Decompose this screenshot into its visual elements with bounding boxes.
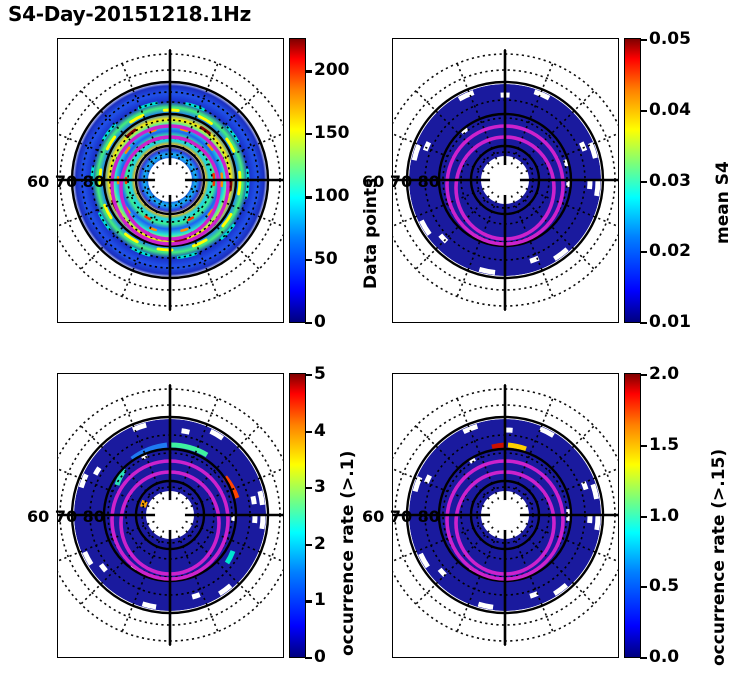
colorbar-data-points: 0 50 100 150 200 Data points [289, 38, 306, 323]
panel-mean-s4: 60 70 80 [392, 38, 619, 323]
cbar-tick-1: 0.02 [649, 241, 691, 261]
cbar-tick-0: 0.01 [649, 312, 691, 332]
cbar-tick-1: 1 [314, 590, 326, 610]
latitude-tick-labels: 60 70 80 [27, 172, 105, 191]
colorbar-occurrence-015: 0.0 0.5 1.0 1.5 2.0 occurrence rate (>.1… [624, 373, 641, 658]
cbar-tick-4: 4 [314, 421, 326, 441]
cbar-tick-1: 0.5 [649, 576, 679, 596]
figure-canvas: S4-Day-20151218.1Hz [0, 0, 731, 674]
colorbar-label-data-points: Data points [361, 178, 381, 289]
cbar-tick-2: 1.0 [649, 506, 679, 526]
cbar-tick-2: 2 [314, 534, 326, 554]
figure-title: S4-Day-20151218.1Hz [8, 2, 251, 26]
cbar-tick-2: 100 [314, 186, 350, 206]
cbar-tick-4: 0.05 [649, 29, 691, 49]
cbar-tick-3: 0.04 [649, 100, 691, 120]
colorbar-mean-s4: 0.01 0.02 0.03 0.04 0.05 mean S4 [624, 38, 641, 323]
latitude-tick-labels: 60 70 80 [362, 172, 440, 191]
cbar-tick-1: 50 [314, 249, 338, 269]
colorbar-occurrence-01: 0 1 2 3 4 5 occurrence rate (>.1) [289, 373, 306, 658]
cbar-tick-2: 0.03 [649, 171, 691, 191]
cbar-tick-0: 0 [314, 312, 326, 332]
cbar-tick-5: 5 [314, 364, 326, 384]
cbar-tick-0: 0 [314, 647, 326, 667]
colorbar-label-mean-s4: mean S4 [713, 161, 731, 244]
cbar-tick-3: 3 [314, 477, 326, 497]
panel-occurrence-rate-gt-01: 60 70 80 [57, 373, 284, 658]
colorbar-label-occurrence-015: occurrence rate (>.15) [709, 449, 729, 666]
cbar-tick-4: 2.0 [649, 364, 679, 384]
cbar-tick-0: 0.0 [649, 647, 679, 667]
cbar-tick-3: 150 [314, 123, 350, 143]
cbar-tick-4: 200 [314, 60, 350, 80]
latitude-tick-labels: 60 70 80 [27, 507, 105, 526]
panel-data-points: 60 70 80 [57, 38, 284, 323]
panel-occurrence-rate-gt-015: 60 70 80 [392, 373, 619, 658]
cbar-tick-3: 1.5 [649, 435, 679, 455]
latitude-tick-labels: 60 70 80 [362, 507, 440, 526]
colorbar-label-occurrence-01: occurrence rate (>.1) [338, 451, 358, 656]
